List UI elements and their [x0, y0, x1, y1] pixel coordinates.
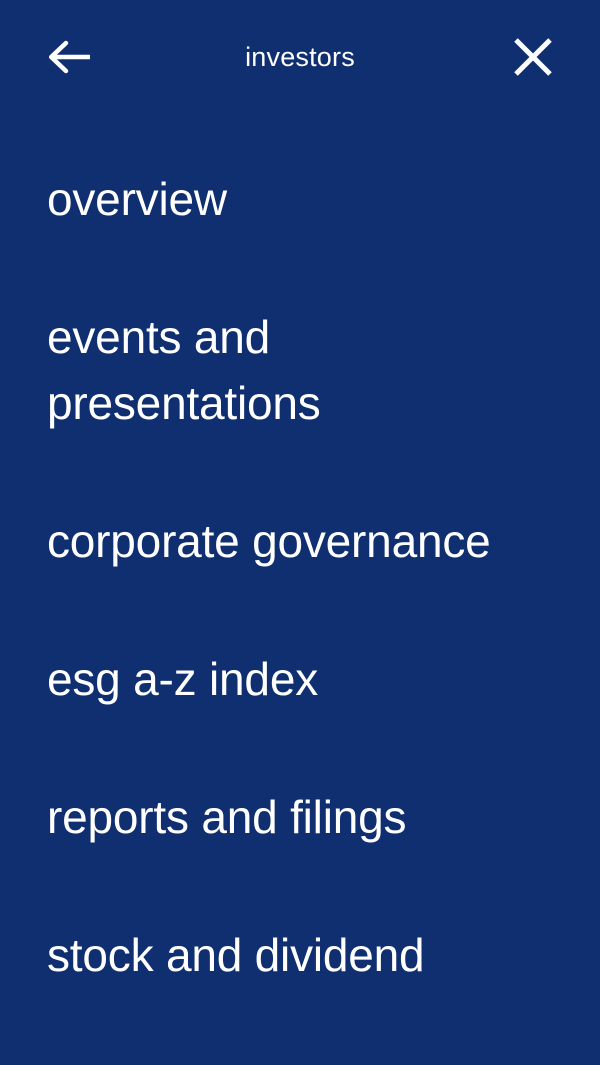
menu-item-events-and-presentations[interactable]: events and presentations [47, 304, 527, 436]
menu-item-corporate-governance[interactable]: corporate governance [47, 508, 527, 574]
close-button[interactable] [502, 26, 564, 88]
menu-item-overview[interactable]: overview [47, 166, 527, 232]
menu-item-esg-a-z-index[interactable]: esg a-z index [47, 646, 527, 712]
menu-item-stock-and-dividend[interactable]: stock and dividend [47, 922, 527, 988]
navigation-menu: overview events and presentations corpor… [0, 112, 600, 1065]
menu-item-reports-and-filings[interactable]: reports and filings [47, 784, 527, 850]
mobile-navigation-screen: investors overview events and presentati… [0, 0, 600, 1065]
navigation-header: investors [0, 0, 600, 112]
close-icon [512, 36, 554, 78]
